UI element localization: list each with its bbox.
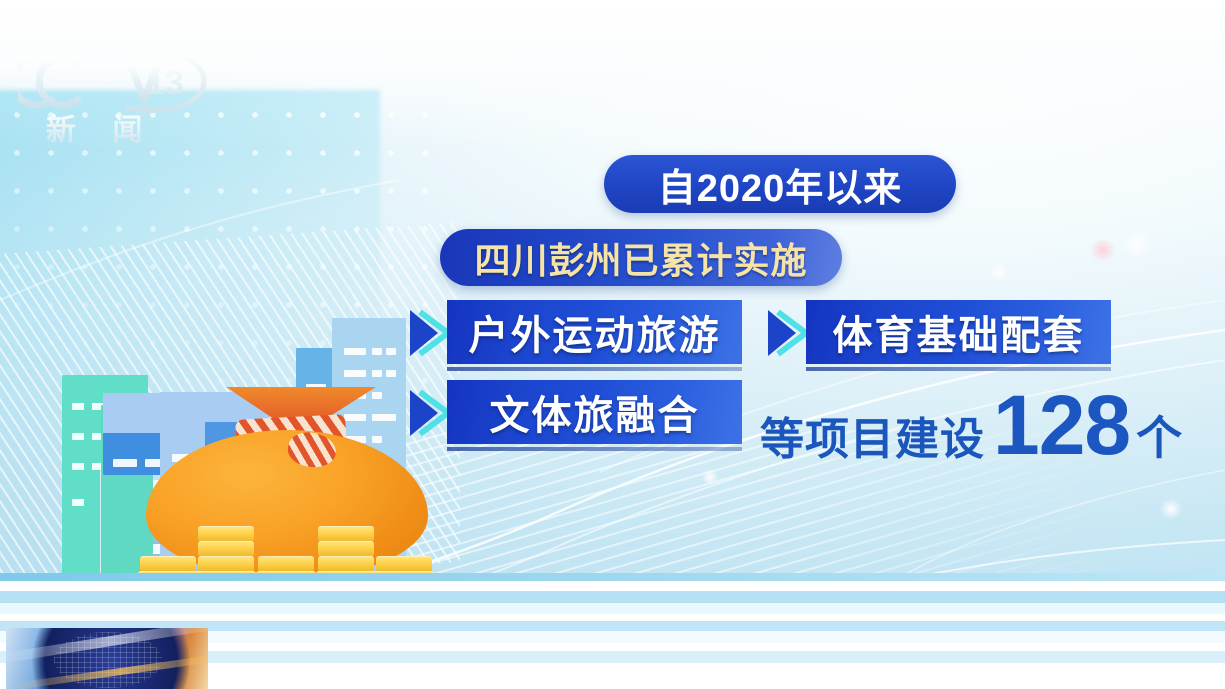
project-count-number: 128 (993, 388, 1130, 464)
category-bar-culture-sports-tourism: 文体旅融合 (447, 380, 742, 444)
category-bar-sports-infrastructure: 体育基础配套 (806, 300, 1111, 364)
light-glow (1158, 500, 1184, 518)
summary-lead-text: 等项目建设 (760, 403, 985, 467)
ground-line (0, 573, 1225, 581)
broadcast-graphic: 13 新 闻 自2020年以来 四川彭州已累计实施 户外运动旅游 体育基础配套 (0, 0, 1225, 689)
svg-text:13: 13 (146, 64, 184, 102)
light-glow (988, 264, 1010, 280)
cctv13-news-logo: 13 新 闻 (18, 48, 208, 143)
money-bag-icon (140, 385, 440, 585)
subject-badge: 四川彭州已累计实施 (440, 229, 842, 286)
light-glow (1120, 232, 1154, 256)
project-count-summary: 等项目建设 128 个 (760, 388, 1182, 468)
light-glow (700, 470, 720, 484)
project-count-unit: 个 (1136, 402, 1182, 468)
news-globe-banner (6, 628, 208, 689)
light-glow-pink (1088, 240, 1118, 260)
category-bar-outdoor-sports-tourism: 户外运动旅游 (447, 300, 742, 364)
since-badge: 自2020年以来 (604, 155, 956, 213)
svg-text:新 闻: 新 闻 (46, 114, 156, 143)
